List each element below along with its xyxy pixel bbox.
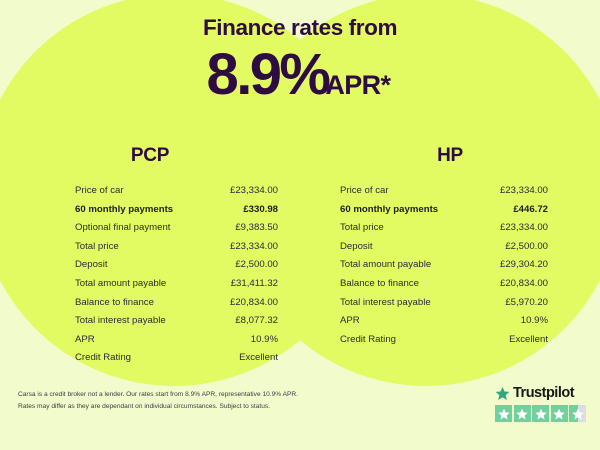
finance-rows-hp: Price of car £23,334.00 60 monthly payme… — [340, 182, 548, 349]
table-row: Total price £23,334.00 — [75, 238, 278, 257]
rating-star-icon — [532, 405, 549, 422]
table-row: Total amount payable £29,304.20 — [340, 256, 548, 275]
finance-comparison: PCP Price of car £23,334.00 60 monthly p… — [0, 146, 600, 384]
row-label: Credit Rating — [340, 331, 396, 350]
row-value: 10.9% — [251, 331, 278, 350]
rate-line: 8.9%APR* — [0, 40, 600, 104]
trustpilot-rating[interactable]: Trustpilot — [495, 384, 591, 422]
row-value: £20,834.00 — [230, 294, 278, 313]
banner-footer: Carsa is a credit broker not a lender. O… — [0, 386, 600, 450]
table-row: Total interest payable £8,077.32 — [75, 312, 278, 331]
row-label: Balance to finance — [340, 275, 419, 294]
row-label: 60 monthly payments — [75, 201, 173, 220]
row-value: Excellent — [509, 331, 548, 350]
row-value: £5,970.20 — [505, 294, 548, 313]
row-value: £23,334.00 — [230, 238, 278, 257]
rate-suffix: APR* — [325, 70, 390, 100]
rate-value: 8.9% — [207, 42, 329, 107]
rating-star-icon — [495, 405, 512, 422]
column-title-pcp: PCP — [0, 146, 300, 165]
table-row: Price of car £23,334.00 — [340, 182, 548, 201]
table-row: Deposit £2,500.00 — [340, 238, 548, 257]
finance-rows-pcp: Price of car £23,334.00 60 monthly payme… — [75, 182, 278, 368]
table-row: APR 10.9% — [75, 331, 278, 350]
row-value: 10.9% — [521, 312, 548, 331]
row-label: APR — [340, 312, 360, 331]
table-row: 60 monthly payments £330.98 — [75, 201, 278, 220]
table-row: Total amount payable £31,411.32 — [75, 275, 278, 294]
row-label: 60 monthly payments — [340, 201, 438, 220]
table-row: Deposit £2,500.00 — [75, 256, 278, 275]
row-label: Total interest payable — [340, 294, 431, 313]
disclaimer-text: Carsa is a credit broker not a lender. O… — [18, 389, 348, 412]
table-row: Credit Rating Excellent — [75, 349, 278, 368]
table-row: 60 monthly payments £446.72 — [340, 201, 548, 220]
finance-rates-banner: Finance rates from 8.9%APR* PCP Price of… — [0, 0, 600, 450]
row-value: £8,077.32 — [235, 312, 278, 331]
rating-star-half-icon — [569, 405, 586, 422]
row-value: £9,383.50 — [235, 219, 278, 238]
row-label: Optional final payment — [75, 219, 170, 238]
row-value: £23,334.00 — [500, 219, 548, 238]
disclaimer-line-2: Rates may differ as they are dependant o… — [18, 401, 348, 413]
banner-header: Finance rates from 8.9%APR* — [0, 0, 600, 104]
row-value: £330.98 — [243, 201, 278, 220]
row-value: £20,834.00 — [500, 275, 548, 294]
row-label: Total price — [340, 219, 384, 238]
row-label: Credit Rating — [75, 349, 131, 368]
table-row: Credit Rating Excellent — [340, 331, 548, 350]
row-value: £31,411.32 — [231, 275, 278, 294]
row-label: APR — [75, 331, 95, 350]
row-label: Total amount payable — [75, 275, 166, 294]
column-title-hp: HP — [300, 146, 600, 165]
trustpilot-wordmark: Trustpilot — [513, 386, 574, 401]
disclaimer-line-1: Carsa is a credit broker not a lender. O… — [18, 389, 348, 401]
row-label: Deposit — [340, 238, 373, 257]
star-icon — [495, 386, 510, 401]
finance-column-pcp: PCP Price of car £23,334.00 60 monthly p… — [0, 146, 300, 384]
row-label: Price of car — [340, 182, 389, 201]
row-label: Total amount payable — [340, 256, 431, 275]
page-title: Finance rates from — [0, 0, 600, 40]
rating-star-icon — [551, 405, 568, 422]
table-row: Optional final payment £9,383.50 — [75, 219, 278, 238]
trustpilot-logo: Trustpilot — [495, 384, 591, 402]
table-row: Balance to finance £20,834.00 — [75, 294, 278, 313]
table-row: Balance to finance £20,834.00 — [340, 275, 548, 294]
row-label: Price of car — [75, 182, 124, 201]
row-label: Total interest payable — [75, 312, 166, 331]
row-label: Balance to finance — [75, 294, 154, 313]
table-row: Total price £23,334.00 — [340, 219, 548, 238]
row-label: Deposit — [75, 256, 108, 275]
row-value: £2,500.00 — [235, 256, 278, 275]
table-row: Price of car £23,334.00 — [75, 182, 278, 201]
rating-star-icon — [514, 405, 531, 422]
row-value: £29,304.20 — [500, 256, 548, 275]
trustpilot-star-rating — [495, 405, 591, 422]
table-row: Total interest payable £5,970.20 — [340, 294, 548, 313]
table-row: APR 10.9% — [340, 312, 548, 331]
row-value: £23,334.00 — [230, 182, 278, 201]
row-value: £446.72 — [513, 201, 548, 220]
finance-column-hp: HP Price of car £23,334.00 60 monthly pa… — [300, 146, 600, 384]
row-value: £23,334.00 — [500, 182, 548, 201]
row-value: £2,500.00 — [505, 238, 548, 257]
row-label: Total price — [75, 238, 119, 257]
row-value: Excellent — [239, 349, 278, 368]
